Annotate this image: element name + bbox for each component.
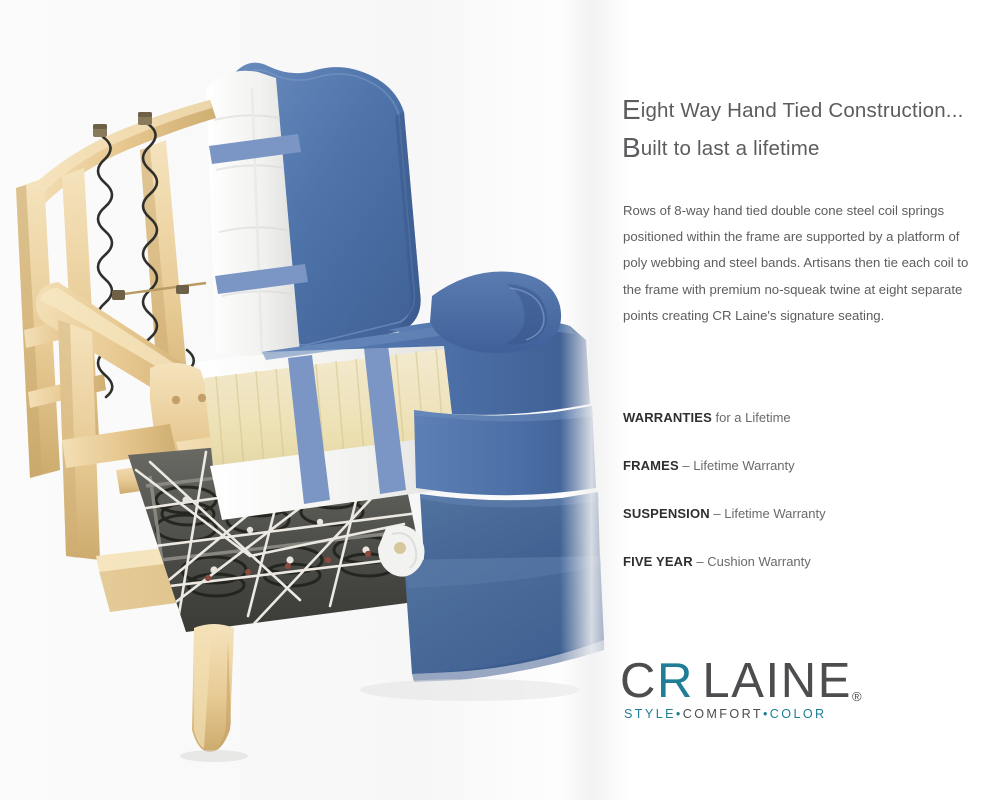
warranty-term-frames: FRAMES <box>623 458 679 473</box>
warranty-separator: – <box>710 506 724 521</box>
headline-dropcap-b: B <box>622 132 641 163</box>
tagline-color: COLOR <box>770 707 827 721</box>
tagline-style: STYLE <box>624 707 676 721</box>
warranty-description-suspension: Lifetime Warranty <box>724 506 825 521</box>
logo-tagline: STYLE•COMFORT•COLOR <box>624 707 827 721</box>
warranties-list: WARRANTIES for a Lifetime FRAMES – Lifet… <box>623 410 983 570</box>
skirt-shadow <box>360 679 580 701</box>
poster-page: Eight Way Hand Tied Construction... Buil… <box>0 0 1000 800</box>
cr-laine-logo: CRLAINE® STYLE•COMFORT•COLOR <box>620 655 1000 745</box>
tagline-dot-icon: • <box>676 707 683 721</box>
chair-leg <box>192 624 234 752</box>
chair-illustration <box>0 0 620 800</box>
warranty-separator: – <box>679 458 693 473</box>
headline-line-1: Eight Way Hand Tied Construction... <box>622 92 994 130</box>
tagline-comfort: COMFORT <box>683 707 763 721</box>
warranty-row-five-year: FIVE YEAR – Cushion Warranty <box>623 554 983 570</box>
warranties-heading-rest: for a Lifetime <box>712 410 791 425</box>
warranty-term-five-year: FIVE YEAR <box>623 554 693 569</box>
warranties-heading-term: WARRANTIES <box>623 410 712 425</box>
headline-line-1-text: ight Way Hand Tied Construction... <box>641 99 964 122</box>
warranty-description-five-year: Cushion Warranty <box>707 554 811 569</box>
warranty-separator: – <box>693 554 707 569</box>
warranty-row-frames: FRAMES – Lifetime Warranty <box>623 458 983 474</box>
warranty-row-suspension: SUSPENSION – Lifetime Warranty <box>623 506 983 522</box>
page-title: Eight Way Hand Tied Construction... Buil… <box>622 92 994 168</box>
logo-letter-r: R <box>657 654 702 708</box>
warranty-description-frames: Lifetime Warranty <box>693 458 794 473</box>
description-paragraph: Rows of 8-way hand tied double cone stee… <box>623 198 973 329</box>
logo-word-laine: LAINE <box>702 654 852 708</box>
leg-shadow <box>180 750 248 762</box>
description-text: Rows of 8-way hand tied double cone stee… <box>623 198 973 329</box>
chair-cutaway-photo <box>0 0 620 800</box>
warranties-heading: WARRANTIES for a Lifetime <box>623 410 983 426</box>
headline-dropcap-e: E <box>622 94 641 125</box>
headline-line-2-text: uilt to last a lifetime <box>641 137 820 160</box>
logo-letter-c: C <box>620 654 657 708</box>
tagline-dot-icon: • <box>763 707 770 721</box>
registered-trademark-icon: ® <box>852 689 862 704</box>
warranty-term-suspension: SUSPENSION <box>623 506 710 521</box>
content-column: Eight Way Hand Tied Construction... Buil… <box>620 0 1000 800</box>
headline-line-2: Built to last a lifetime <box>622 130 994 168</box>
